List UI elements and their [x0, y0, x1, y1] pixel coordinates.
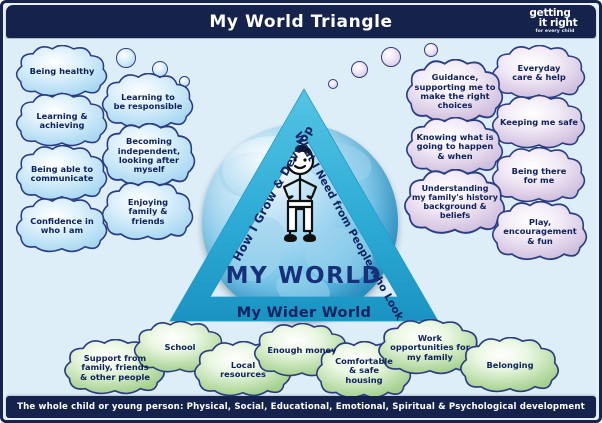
my-world-triangle-shape: How I Grow & Develop What I Need from Pe… [166, 83, 442, 329]
footer-text: The whole child or young person: Physica… [17, 402, 585, 412]
cloud-label: Knowing what is going to happen & when [407, 133, 502, 161]
logo-line-2: it right [539, 18, 578, 29]
decorative-bubble [351, 61, 368, 78]
cloud-label: Support from family, friends & other peo… [71, 354, 159, 382]
cloud-label: Being there for me [503, 167, 576, 186]
cloud-label: School [155, 343, 204, 352]
cloud-label: Keeping me safe [491, 118, 587, 127]
cloud-label: Learning & achieving [27, 112, 96, 131]
decorative-bubble [328, 79, 338, 89]
poster-stage: How I Grow & Develop What I Need from Pe… [6, 39, 596, 396]
cloud-label: Guidance, supporting me to make the righ… [406, 73, 505, 110]
cloud-growth-5[interactable]: Enjoying family & friends [100, 181, 196, 243]
cloud-label: Understanding my family's history backgr… [403, 185, 507, 221]
decorative-bubble [424, 43, 438, 57]
cloud-label: Belonging [477, 361, 542, 370]
cloud-label: Enough money [258, 346, 345, 355]
cloud-label: Enjoying family & friends [119, 198, 177, 226]
cloud-growth-0[interactable]: Being healthy [14, 45, 110, 99]
cloud-label: Learning to be responsible [105, 93, 192, 112]
cloud-label: Becoming independent, looking after myse… [109, 137, 189, 174]
cloud-growth-3[interactable]: Becoming independent, looking after myse… [100, 123, 198, 189]
my-world-center-label: MY WORLD [226, 263, 383, 289]
cloud-label: Work opportunities for my family [381, 334, 479, 362]
getting-it-right-logo: getting it right for every child [521, 6, 589, 37]
cloud-label: Play, encouragement & fun [494, 218, 585, 246]
cloud-growth-6[interactable]: Confidence in who I am [14, 197, 110, 255]
cloud-growth-4[interactable]: Being able to communicate [14, 145, 110, 203]
logo-line-3: for every child [535, 30, 574, 35]
my-world-triangle-poster: My World Triangle getting it right for e… [0, 0, 602, 423]
cloud-growth-2[interactable]: Learning & achieving [14, 93, 110, 149]
cloud-label: Everyday care & help [503, 64, 575, 83]
cloud-label: Confidence in who I am [21, 217, 103, 236]
cloud-label: Being healthy [21, 67, 104, 76]
header-bar: My World Triangle getting it right for e… [6, 5, 596, 38]
decorative-bubble [116, 48, 136, 68]
decorative-bubble [381, 47, 401, 67]
page-title: My World Triangle [6, 5, 596, 38]
cloud-label: Local resources [211, 361, 275, 380]
footer-bar: The whole child or young person: Physica… [6, 396, 596, 418]
cloud-label: Being able to communicate [22, 165, 103, 184]
